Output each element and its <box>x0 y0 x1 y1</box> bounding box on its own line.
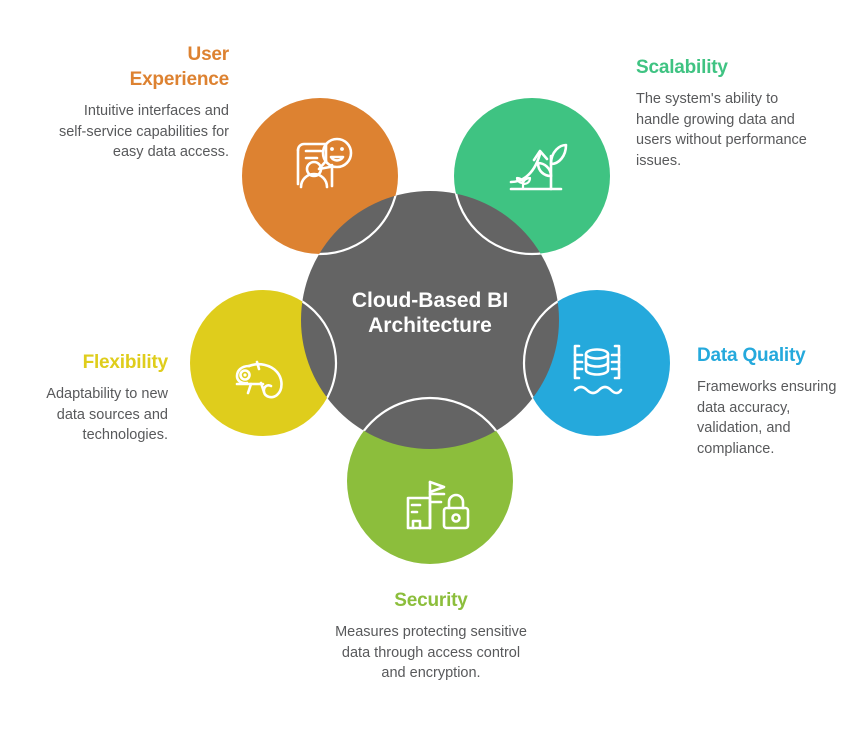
heading-scalability: Scalability <box>636 55 816 80</box>
center-label-line1: Cloud-Based BI <box>352 289 508 312</box>
body-scalability: The system's ability to handle growing d… <box>636 89 816 171</box>
heading-security: Security <box>333 588 529 613</box>
body-flexibility: Adaptability to new data sources and tec… <box>28 384 168 446</box>
infographic-canvas: Cloud-Based BI Architecture <box>0 0 865 739</box>
heading-flexibility: Flexibility <box>28 350 168 375</box>
body-user-experience: Intuitive interfaces and self-service ca… <box>54 101 229 163</box>
label-block-user-experience: User Experience Intuitive interfaces and… <box>54 42 229 163</box>
center-label-line2: Architecture <box>368 314 492 337</box>
heading-user-experience-line2: Experience <box>130 69 229 90</box>
label-block-data-quality: Data Quality Frameworks ensuring data ac… <box>697 343 857 459</box>
label-block-flexibility: Flexibility Adaptability to new data sou… <box>28 350 168 446</box>
body-data-quality: Frameworks ensuring data accuracy, valid… <box>697 377 857 459</box>
body-security: Measures protecting sensitive data throu… <box>333 622 529 684</box>
heading-user-experience-line1: User <box>188 44 229 65</box>
heading-data-quality: Data Quality <box>697 343 857 368</box>
label-block-scalability: Scalability The system's ability to hand… <box>636 55 816 171</box>
label-block-security: Security Measures protecting sensitive d… <box>333 588 529 684</box>
heading-user-experience: User Experience <box>54 42 229 92</box>
